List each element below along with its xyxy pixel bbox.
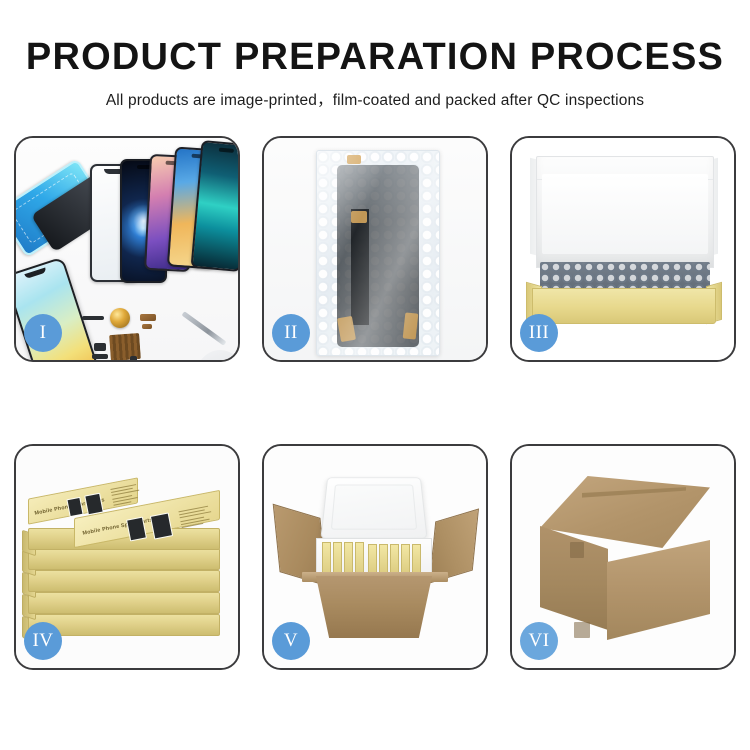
step-badge-6: VI bbox=[520, 622, 558, 660]
small-part bbox=[140, 314, 156, 321]
packed-retail-boxes bbox=[322, 542, 426, 576]
process-steps-grid: I II bbox=[14, 136, 736, 670]
page-subtitle: All products are image-printed，film-coat… bbox=[0, 88, 750, 110]
step-panel-1: I bbox=[14, 136, 240, 362]
tweezers-tool bbox=[181, 311, 226, 346]
box-spec-lines bbox=[110, 483, 143, 507]
stack-layer bbox=[28, 548, 220, 570]
kraft-box-base bbox=[532, 288, 716, 324]
carton-tape-patch bbox=[574, 622, 590, 638]
page-title: PRODUCT PREPARATION PROCESS bbox=[0, 38, 750, 78]
step-badge-2: II bbox=[272, 314, 310, 352]
small-part bbox=[82, 316, 104, 320]
step-badge-5: V bbox=[272, 622, 310, 660]
step-badge-3: III bbox=[520, 314, 558, 352]
header: PRODUCT PREPARATION PROCESS All products… bbox=[0, 0, 750, 110]
small-part bbox=[94, 343, 106, 351]
step-panel-6: VI bbox=[510, 444, 736, 670]
step-badge-4: IV bbox=[24, 622, 62, 660]
carton-tape-patch bbox=[570, 542, 584, 558]
small-part bbox=[142, 324, 152, 329]
step-panel-2: II bbox=[262, 136, 488, 362]
stack-layer bbox=[28, 570, 220, 592]
stack-layer bbox=[28, 592, 220, 614]
step-panel-4: Mobile Phone Spare Parts Mobile Phone Sp… bbox=[14, 444, 240, 670]
foam-sheet bbox=[542, 174, 708, 254]
product-preparation-infographic: PRODUCT PREPARATION PROCESS All products… bbox=[0, 0, 750, 750]
step-panel-3: III bbox=[510, 136, 736, 362]
foam-box-lid bbox=[320, 477, 427, 538]
step-panel-5: V bbox=[262, 444, 488, 670]
small-part bbox=[130, 356, 137, 360]
hand bbox=[196, 350, 238, 360]
small-part bbox=[92, 354, 108, 359]
carton-right-face bbox=[607, 540, 710, 640]
carton-front bbox=[308, 576, 440, 638]
bubble-wrap-bag bbox=[316, 150, 440, 356]
notch bbox=[219, 148, 234, 153]
plastic-sheen bbox=[317, 151, 439, 355]
step-badge-1: I bbox=[24, 314, 62, 352]
speaker-coil-part bbox=[110, 308, 130, 328]
